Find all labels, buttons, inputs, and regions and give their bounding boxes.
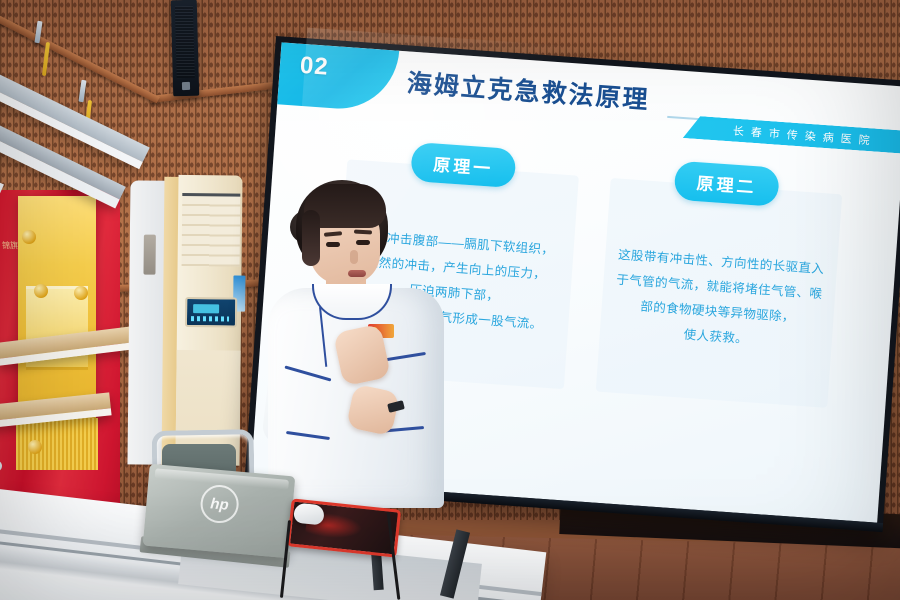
eye — [356, 240, 370, 245]
speaker-logo — [182, 82, 190, 90]
ac-left-panel — [127, 180, 166, 464]
principle-card-two: 原理二 这股带有冲击性、方向性的长驱直入 于气管的气流，就能将堵住气管、喉 部的… — [596, 178, 843, 408]
hp-laptop[interactable]: hp — [146, 470, 292, 562]
wall-switch-plate[interactable] — [143, 235, 155, 275]
ac-display-readout — [193, 304, 219, 313]
presentation-room-photo: 锦旗 — [0, 0, 900, 600]
section-number-text: 02 — [299, 52, 330, 82]
nose — [350, 250, 358, 264]
hospital-ribbon: 长春市传染病医院 — [683, 115, 900, 155]
presenter — [262, 176, 448, 506]
hair-side-strand — [302, 210, 320, 266]
mouth — [348, 270, 366, 277]
shelf-knob — [0, 460, 2, 472]
ac-air-vent — [182, 193, 241, 267]
ac-display-bar — [191, 316, 229, 321]
air-conditioner[interactable] — [127, 174, 242, 465]
hp-logo-icon: hp — [199, 484, 240, 525]
hospital-ribbon-text: 长春市传染病医院 — [724, 121, 877, 148]
principle-two-body: 这股带有冲击性、方向性的长驱直入 于气管的气流，就能将堵住气管、喉 部的食物硬块… — [605, 242, 832, 357]
shelf-board — [0, 392, 112, 431]
laptop-lid: hp — [143, 464, 296, 558]
principle-two-pill: 原理二 — [673, 161, 779, 207]
eyebrow — [354, 230, 372, 235]
eye — [326, 242, 340, 247]
slide-title: 海姆立克急救法原理 — [406, 63, 651, 116]
section-number-badge: 02 — [277, 42, 399, 112]
ac-display-panel[interactable] — [185, 297, 237, 328]
